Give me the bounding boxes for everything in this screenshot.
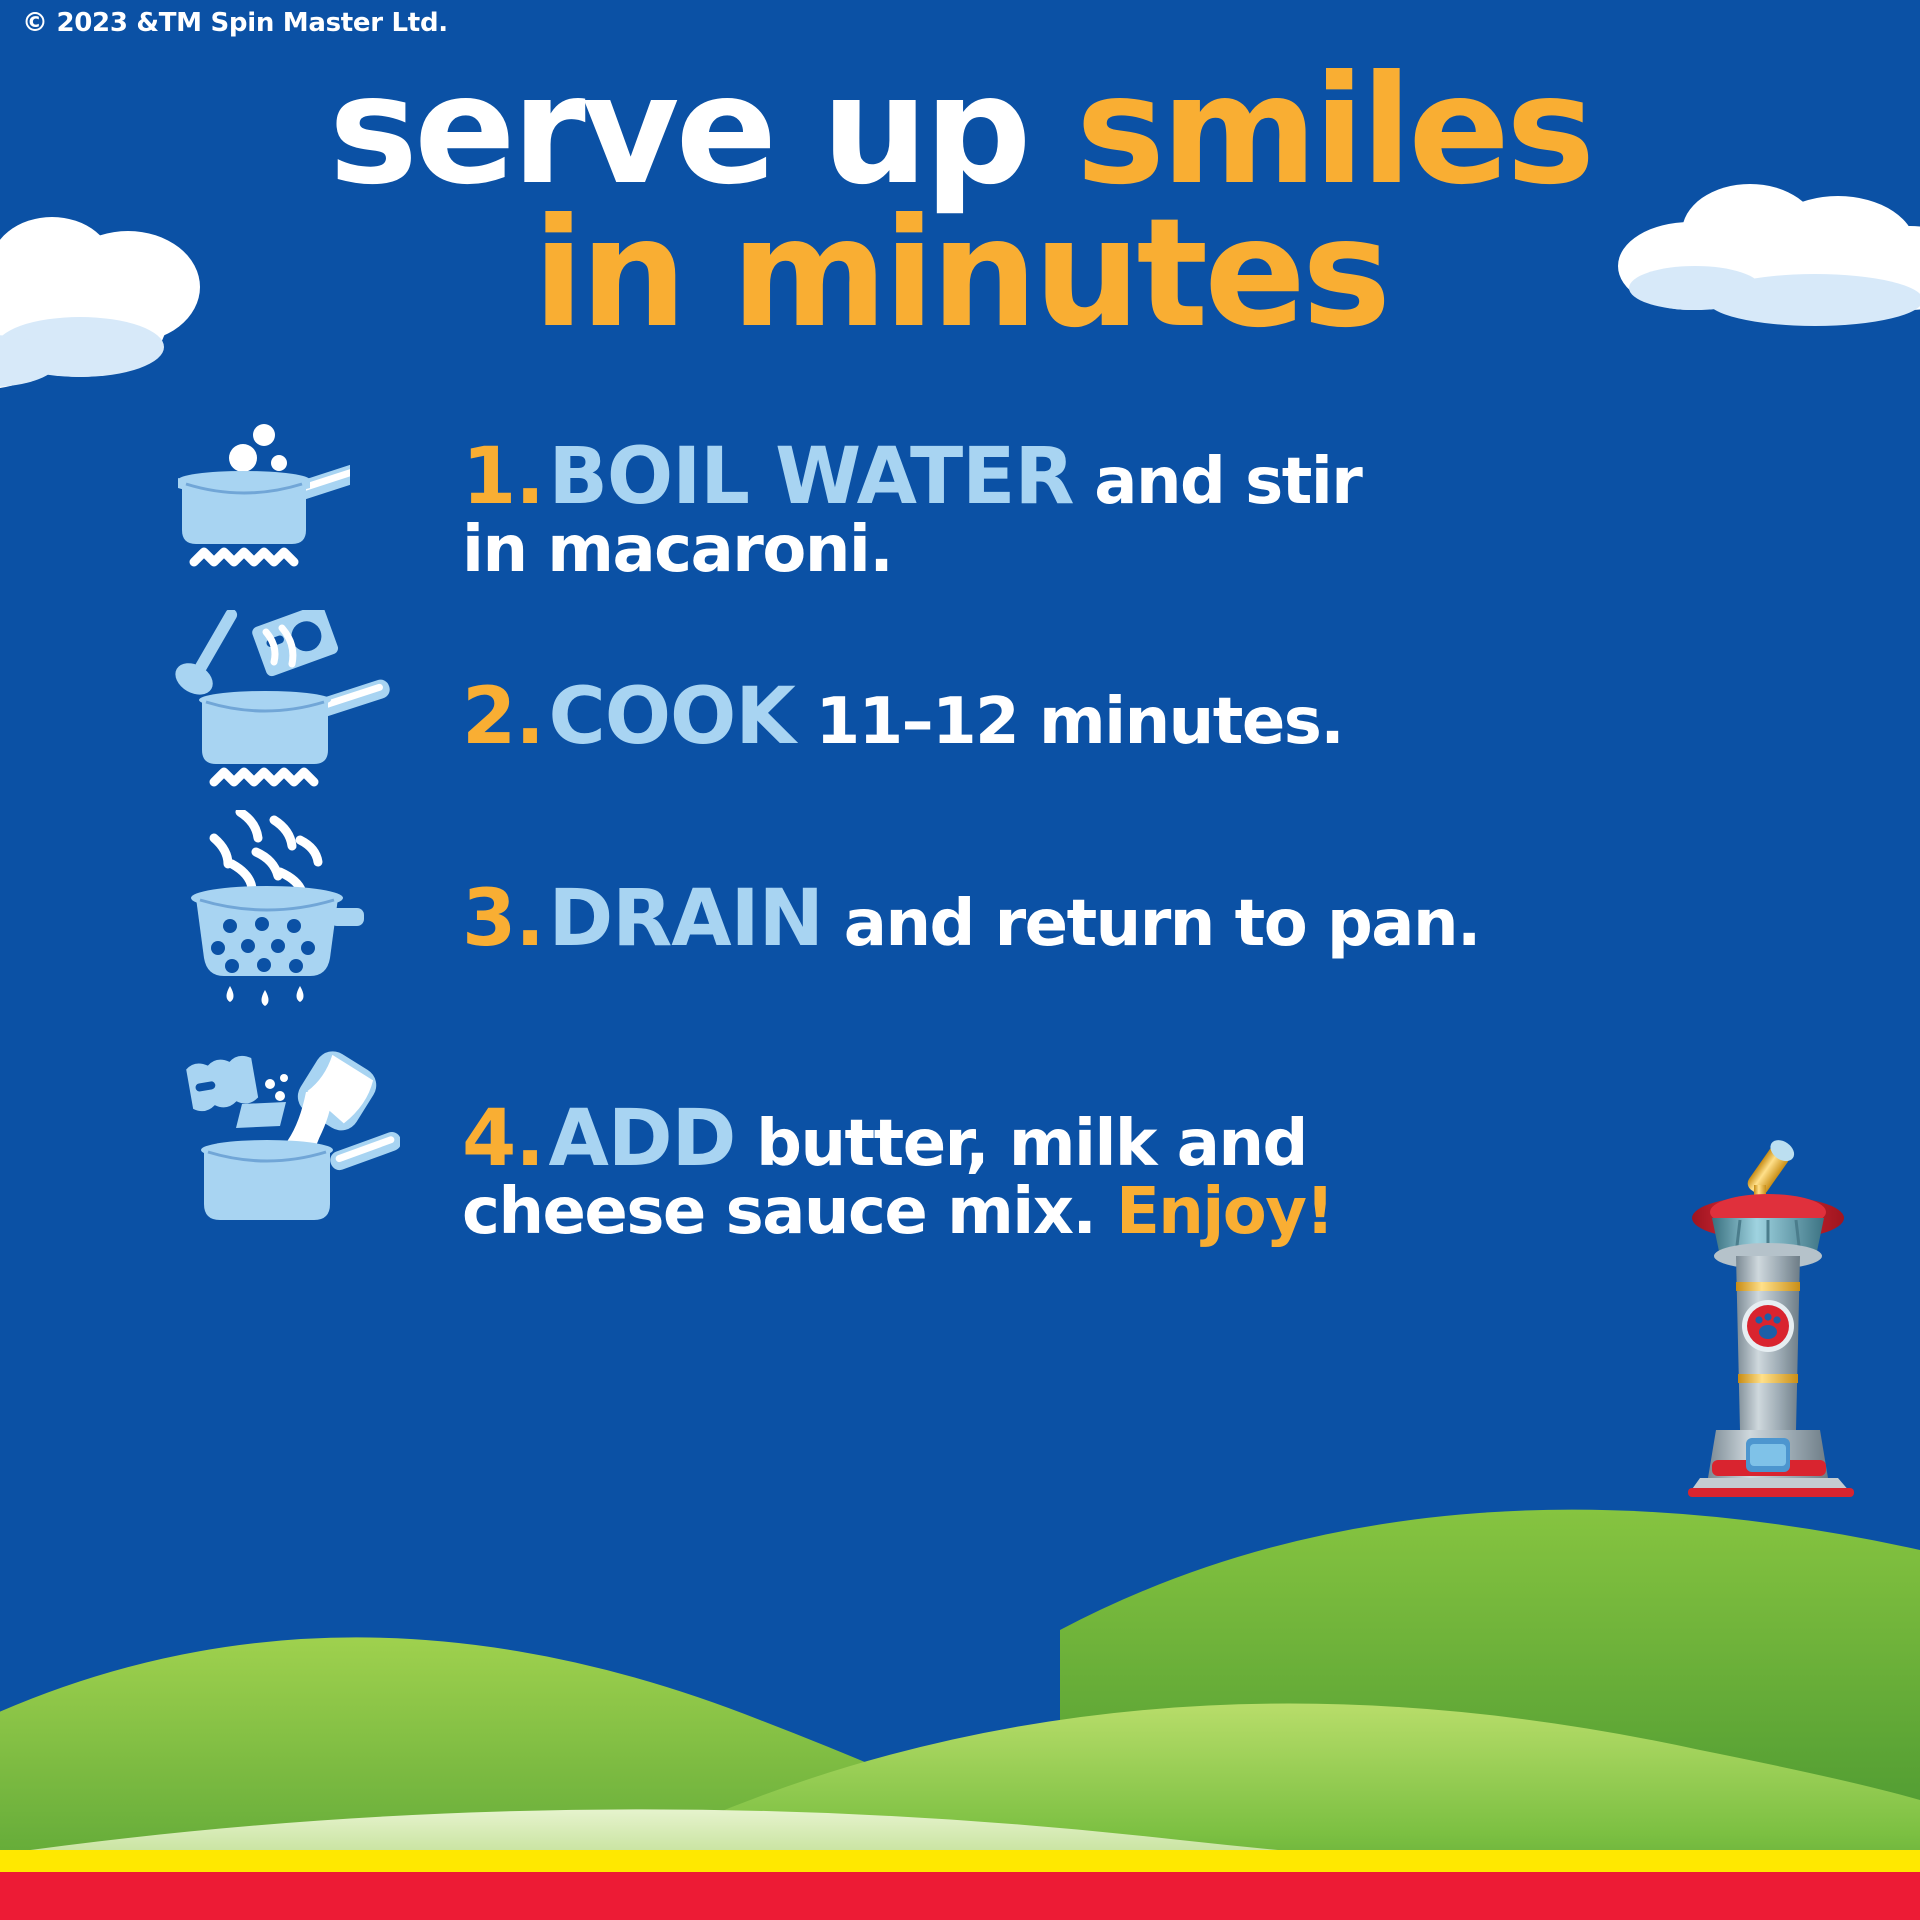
step-1-keyword: BOIL WATER bbox=[548, 432, 1073, 522]
headline-line-1: serve up smiles bbox=[0, 60, 1920, 203]
step-1-number: 1. bbox=[462, 432, 544, 522]
poster-canvas: © 2023 &TM Spin Master Ltd. serve up smi… bbox=[0, 0, 1920, 1920]
stripe-yellow bbox=[0, 1850, 1920, 1872]
headline-line-2: in minutes bbox=[0, 203, 1920, 346]
step-2-text: 2. COOK 11–12 minutes. bbox=[462, 678, 1412, 758]
step-2-keyword: COOK bbox=[548, 672, 794, 762]
step-4-enjoy: Enjoy! bbox=[1116, 1175, 1333, 1249]
step-3-keyword: DRAIN bbox=[548, 874, 822, 964]
step-4-number: 4. bbox=[462, 1094, 544, 1184]
step-2-number: 2. bbox=[462, 672, 544, 762]
step-3-text: 3. DRAIN and return to pan. bbox=[462, 880, 1562, 960]
stripe-red bbox=[0, 1872, 1920, 1920]
boiling-pot-icon bbox=[170, 410, 350, 594]
paw-patrol-lookout-tower bbox=[1650, 1130, 1900, 1580]
stirring-pot-icon bbox=[170, 610, 390, 814]
step-3-rest: and return to pan. bbox=[823, 887, 1480, 961]
colander-icon bbox=[170, 810, 380, 1014]
step-1-text: 1. BOIL WATER and stir in macaroni. bbox=[462, 438, 1412, 583]
step-4-keyword: ADD bbox=[548, 1094, 735, 1184]
add-ingredients-pot-icon bbox=[170, 1040, 400, 1244]
grass-hills bbox=[0, 1300, 1920, 1920]
copyright-text: © 2023 &TM Spin Master Ltd. bbox=[22, 8, 448, 38]
page-title: serve up smiles in minutes bbox=[0, 60, 1920, 345]
step-2-rest: 11–12 minutes. bbox=[795, 685, 1343, 759]
step-3-number: 3. bbox=[462, 874, 544, 964]
step-4-text: 4. ADD butter, milk and cheese sauce mix… bbox=[462, 1100, 1462, 1245]
